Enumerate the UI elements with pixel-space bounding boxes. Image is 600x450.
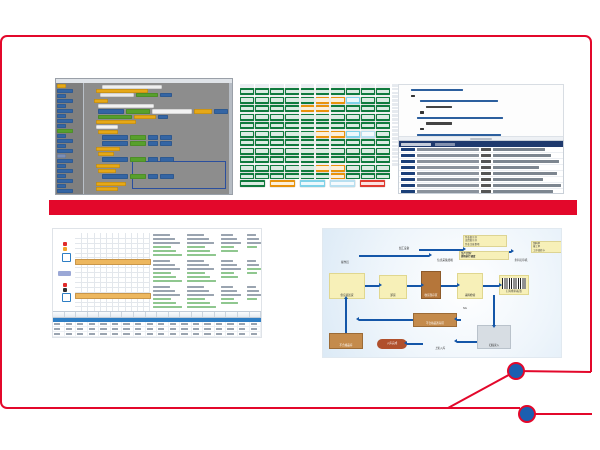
table-cell[interactable] <box>250 332 262 336</box>
form-field-group[interactable] <box>153 286 183 310</box>
table-cell[interactable] <box>192 322 204 326</box>
status-tile-green[interactable] <box>240 122 254 129</box>
table-cell[interactable] <box>146 337 158 338</box>
status-tile-green[interactable] <box>316 88 330 95</box>
status-tile-green[interactable] <box>240 173 254 179</box>
form-field-group[interactable] <box>221 286 243 306</box>
status-tile-green[interactable] <box>376 148 390 155</box>
table-cell[interactable] <box>250 327 262 331</box>
status-tile-green[interactable] <box>376 165 390 172</box>
status-tile-green[interactable] <box>346 148 360 155</box>
table-cell[interactable] <box>238 322 250 326</box>
table-cell[interactable] <box>146 322 158 326</box>
table-cell[interactable] <box>157 322 169 326</box>
table-cell[interactable] <box>65 322 77 326</box>
status-tile-green[interactable] <box>240 131 254 138</box>
table-cell[interactable] <box>203 327 215 331</box>
palette-block[interactable] <box>57 164 66 168</box>
status-tile-green[interactable] <box>376 88 390 95</box>
table-cell[interactable] <box>122 322 134 326</box>
code-block[interactable] <box>102 141 128 146</box>
planner-track-column[interactable] <box>57 233 73 311</box>
blocks-editor-screenshot[interactable] <box>55 78 233 195</box>
status-tile-green[interactable] <box>270 122 284 129</box>
planner-gantt-grid[interactable] <box>75 233 149 311</box>
code-block[interactable] <box>148 157 158 162</box>
status-tile-green[interactable] <box>361 97 375 104</box>
code-block[interactable] <box>98 152 114 156</box>
code-block[interactable] <box>94 99 108 103</box>
code-block[interactable] <box>96 187 118 191</box>
table-column-header[interactable] <box>180 312 192 317</box>
status-tile-green[interactable] <box>270 88 284 95</box>
node-putaway[interactable]: 上架入库 <box>423 329 457 351</box>
code-block[interactable] <box>126 109 150 114</box>
code-block[interactable] <box>98 109 124 114</box>
logistics-flow-diagram-screenshot[interactable]: 加工设备操作员信息采集终端条码打印机供应商送货卸货收货暂存区来料检验打印条码标签… <box>322 228 562 358</box>
node-staging[interactable]: 收货暂存区 <box>421 271 441 299</box>
table-column-header[interactable] <box>146 312 158 317</box>
status-tile-green[interactable] <box>285 131 299 138</box>
log-rows[interactable] <box>399 147 563 194</box>
code-block[interactable] <box>130 141 146 146</box>
status-tile-lightblue[interactable] <box>361 131 375 138</box>
table-cell[interactable] <box>76 332 88 336</box>
table-cell[interactable] <box>203 337 215 338</box>
table-cell[interactable] <box>157 332 169 336</box>
code-block[interactable] <box>98 115 132 119</box>
palette-block[interactable] <box>57 99 73 103</box>
table-cell[interactable] <box>122 337 134 338</box>
status-tile-green[interactable] <box>255 114 269 121</box>
palette-block[interactable] <box>57 174 66 178</box>
status-tile-green[interactable] <box>331 139 345 146</box>
code-block[interactable] <box>96 182 126 186</box>
code-block[interactable] <box>160 135 172 140</box>
table-cell[interactable] <box>134 327 146 331</box>
status-tile-cyan[interactable] <box>346 131 360 138</box>
status-tile-green[interactable] <box>346 105 360 112</box>
status-tile-green[interactable] <box>285 122 299 129</box>
table-cell[interactable] <box>180 327 192 331</box>
table-cell[interactable] <box>65 332 77 336</box>
table-cell[interactable] <box>180 337 192 338</box>
status-tile-green[interactable] <box>346 173 360 179</box>
palette-block[interactable] <box>57 134 66 138</box>
palette-block[interactable] <box>57 114 66 118</box>
status-tile-green[interactable] <box>301 97 315 104</box>
tile-grid[interactable] <box>240 88 390 179</box>
status-tile-green[interactable] <box>240 88 254 95</box>
table-cell[interactable] <box>76 337 88 338</box>
track-marker[interactable] <box>63 283 67 287</box>
table-cell[interactable] <box>99 337 111 338</box>
status-tile-green[interactable] <box>331 114 345 121</box>
table-column-header[interactable] <box>65 312 77 317</box>
track-marker[interactable] <box>62 293 71 302</box>
table-column-header[interactable] <box>238 312 250 317</box>
node-printer[interactable]: 条码打印机 <box>511 241 531 263</box>
code-block[interactable] <box>160 93 172 97</box>
table-cell[interactable] <box>226 332 238 336</box>
table-cell[interactable] <box>53 337 65 338</box>
table-cell[interactable] <box>53 332 65 336</box>
table-cell[interactable] <box>134 332 146 336</box>
table-cell[interactable] <box>122 327 134 331</box>
table-column-header[interactable] <box>192 312 204 317</box>
status-tile-green[interactable] <box>361 88 375 95</box>
node-scan[interactable]: 扫描录入 <box>477 325 511 349</box>
status-tile-green[interactable] <box>346 88 360 95</box>
status-tile-green[interactable] <box>346 122 360 129</box>
status-tile-orange[interactable] <box>331 173 345 179</box>
status-tile-green[interactable] <box>316 148 330 155</box>
status-tile-green[interactable] <box>255 88 269 95</box>
code-block[interactable] <box>152 109 192 114</box>
table-cell[interactable] <box>250 337 262 338</box>
status-tile-green[interactable] <box>361 114 375 121</box>
status-tile-green[interactable] <box>361 105 375 112</box>
table-cell[interactable] <box>192 332 204 336</box>
code-block[interactable] <box>100 93 134 97</box>
table-cell[interactable] <box>157 337 169 338</box>
node-warehouse[interactable]: 入库完成 <box>377 339 407 349</box>
table-row[interactable] <box>53 337 261 338</box>
status-tile-green[interactable] <box>270 165 284 172</box>
status-tile-green[interactable] <box>285 105 299 112</box>
table-cell[interactable] <box>88 327 100 331</box>
form-field-group[interactable] <box>247 286 262 302</box>
table-column-header[interactable] <box>53 312 65 317</box>
status-tile-green[interactable] <box>285 148 299 155</box>
planner-spreadsheet-screenshot[interactable] <box>52 228 262 338</box>
table-cell[interactable] <box>88 332 100 336</box>
table-cell[interactable] <box>111 332 123 336</box>
table-column-header[interactable] <box>111 312 123 317</box>
status-tile-green[interactable] <box>301 88 315 95</box>
table-column-header[interactable] <box>226 312 238 317</box>
table-column-header[interactable] <box>250 312 262 317</box>
table-cell[interactable] <box>76 327 88 331</box>
form-field-group[interactable] <box>153 234 183 258</box>
planner-form-panel[interactable] <box>151 232 259 312</box>
table-cell[interactable] <box>134 322 146 326</box>
table-cell[interactable] <box>180 332 192 336</box>
palette-block[interactable] <box>57 84 66 88</box>
status-tile-green[interactable] <box>346 165 360 172</box>
status-tile-green[interactable] <box>361 156 375 163</box>
node-operator[interactable]: 操作员 <box>331 243 359 265</box>
code-block[interactable] <box>134 115 156 119</box>
code-block[interactable] <box>194 109 212 114</box>
status-tile-orange[interactable] <box>331 97 345 104</box>
blocks-vertical-scrollbar[interactable] <box>229 83 232 194</box>
status-tile-green[interactable] <box>331 88 345 95</box>
code-block[interactable] <box>160 174 174 179</box>
table-cell[interactable] <box>65 337 77 338</box>
table-cell[interactable] <box>192 327 204 331</box>
table-cell[interactable] <box>238 327 250 331</box>
status-tile-green[interactable] <box>270 156 284 163</box>
node-reject-area[interactable]: 不合格品暂存区 <box>413 313 457 327</box>
status-tile-green[interactable] <box>255 148 269 155</box>
status-tile-green[interactable] <box>376 139 390 146</box>
code-block[interactable] <box>214 109 228 114</box>
status-tile-green[interactable] <box>376 122 390 129</box>
log-row[interactable] <box>399 189 563 194</box>
code-block[interactable] <box>160 141 172 146</box>
status-tile-green[interactable] <box>316 122 330 129</box>
palette-block[interactable] <box>57 154 66 158</box>
table-cell[interactable] <box>226 327 238 331</box>
table-cell[interactable] <box>169 322 181 326</box>
status-tile-green[interactable] <box>255 173 269 179</box>
status-tile-green[interactable] <box>361 122 375 129</box>
code-block[interactable] <box>160 157 174 162</box>
status-tile-green[interactable] <box>361 148 375 155</box>
table-column-header[interactable] <box>99 312 111 317</box>
status-tile-orange[interactable] <box>316 165 330 172</box>
status-tile-green[interactable] <box>255 105 269 112</box>
code-block[interactable] <box>136 93 158 97</box>
palette-block[interactable] <box>57 124 66 128</box>
table-cell[interactable] <box>53 322 65 326</box>
table-cell[interactable] <box>157 327 169 331</box>
palette-block[interactable] <box>57 104 66 108</box>
status-tile-green[interactable] <box>346 114 360 121</box>
table-cell[interactable] <box>192 337 204 338</box>
status-tile-cyan[interactable] <box>346 97 360 104</box>
status-tile-green[interactable] <box>376 105 390 112</box>
palette-block[interactable] <box>57 184 66 188</box>
palette-block[interactable] <box>57 144 66 148</box>
status-tile-green[interactable] <box>376 114 390 121</box>
status-tile-green[interactable] <box>301 122 315 129</box>
table-column-header[interactable] <box>122 312 134 317</box>
code-block[interactable] <box>148 174 158 179</box>
status-tile-green[interactable] <box>316 156 330 163</box>
form-field-group[interactable] <box>247 234 262 250</box>
table-cell[interactable] <box>99 322 111 326</box>
status-tile-green[interactable] <box>255 122 269 129</box>
palette-block[interactable] <box>57 169 73 173</box>
status-tile-green[interactable] <box>316 139 330 146</box>
status-tile-green[interactable] <box>376 156 390 163</box>
planner-data-table[interactable] <box>53 311 261 337</box>
code-block[interactable] <box>96 125 118 129</box>
status-tile-green[interactable] <box>285 97 299 104</box>
palette-block[interactable] <box>57 129 73 133</box>
status-tile-green[interactable] <box>361 139 375 146</box>
code-block[interactable] <box>102 157 128 162</box>
table-cell[interactable] <box>169 337 181 338</box>
table-cell[interactable] <box>99 332 111 336</box>
track-marker[interactable] <box>58 271 71 276</box>
status-tile-orange[interactable] <box>316 97 330 104</box>
status-tile-grid-screenshot[interactable] <box>240 84 390 179</box>
table-cell[interactable] <box>226 337 238 338</box>
status-tile-green[interactable] <box>270 131 284 138</box>
status-tile-green[interactable] <box>240 105 254 112</box>
form-field-group[interactable] <box>187 286 217 310</box>
status-tile-green[interactable] <box>240 139 254 146</box>
node-reject-store[interactable]: 不合格品库 <box>329 333 363 349</box>
status-tile-green[interactable] <box>331 148 345 155</box>
status-tile-green[interactable] <box>270 114 284 121</box>
status-tile-green[interactable] <box>255 156 269 163</box>
status-tile-green[interactable] <box>270 105 284 112</box>
status-tile-green[interactable] <box>331 156 345 163</box>
table-cell[interactable] <box>215 327 227 331</box>
status-tile-green[interactable] <box>270 97 284 104</box>
status-tile-green[interactable] <box>270 173 284 179</box>
node-forklift[interactable]: 卸货 <box>379 275 407 299</box>
code-block[interactable] <box>96 164 120 168</box>
table-cell[interactable] <box>169 332 181 336</box>
status-tile-green[interactable] <box>255 97 269 104</box>
code-block[interactable] <box>130 174 146 179</box>
status-tile-green[interactable] <box>285 173 299 179</box>
gantt-bar[interactable] <box>75 293 151 299</box>
status-tile-green[interactable] <box>255 165 269 172</box>
status-tile-orange[interactable] <box>316 131 330 138</box>
status-tile-green[interactable] <box>301 165 315 172</box>
status-tile-green[interactable] <box>255 131 269 138</box>
status-tile-green[interactable] <box>285 165 299 172</box>
log-console-screenshot[interactable] <box>398 140 564 194</box>
status-tile-green[interactable] <box>285 139 299 146</box>
form-field-group[interactable] <box>153 260 183 284</box>
table-column-header[interactable] <box>88 312 100 317</box>
form-field-group[interactable] <box>221 234 243 254</box>
status-tile-green[interactable] <box>376 131 390 138</box>
form-field-group[interactable] <box>187 234 217 258</box>
palette-block[interactable] <box>57 109 73 113</box>
table-cell[interactable] <box>111 327 123 331</box>
table-cell[interactable] <box>238 337 250 338</box>
table-cell[interactable] <box>111 337 123 338</box>
table-cell[interactable] <box>134 337 146 338</box>
code-block[interactable] <box>96 120 136 124</box>
code-block[interactable] <box>102 174 128 179</box>
track-marker[interactable] <box>63 247 67 251</box>
status-tile-green[interactable] <box>240 114 254 121</box>
status-tile-green[interactable] <box>316 114 330 121</box>
status-tile-orange[interactable] <box>301 105 315 112</box>
form-field-group[interactable] <box>221 260 243 280</box>
status-tile-orange[interactable] <box>331 165 345 172</box>
table-column-header[interactable] <box>134 312 146 317</box>
table-cell[interactable] <box>53 327 65 331</box>
code-block[interactable] <box>148 135 158 140</box>
palette-block[interactable] <box>57 139 73 143</box>
status-tile-orange[interactable] <box>331 131 345 138</box>
status-tile-green[interactable] <box>331 105 345 112</box>
table-cell[interactable] <box>146 327 158 331</box>
table-cell[interactable] <box>238 332 250 336</box>
palette-block[interactable] <box>57 194 66 195</box>
status-tile-green[interactable] <box>301 148 315 155</box>
table-cell[interactable] <box>250 322 262 326</box>
palette-block[interactable] <box>57 89 73 93</box>
code-block[interactable] <box>130 135 146 140</box>
track-marker[interactable] <box>63 288 67 292</box>
table-cell[interactable] <box>169 327 181 331</box>
blocks-palette[interactable] <box>56 83 84 194</box>
table-column-header[interactable] <box>215 312 227 317</box>
table-cell[interactable] <box>122 332 134 336</box>
palette-block[interactable] <box>57 159 73 163</box>
status-tile-green[interactable] <box>346 139 360 146</box>
status-tile-green[interactable] <box>240 156 254 163</box>
node-inspection[interactable]: 来料检验 <box>457 273 483 299</box>
code-block[interactable] <box>98 169 116 173</box>
status-tile-green[interactable] <box>316 173 330 179</box>
palette-block[interactable] <box>57 119 73 123</box>
palette-block[interactable] <box>57 149 73 153</box>
status-tile-orange[interactable] <box>316 105 330 112</box>
table-column-header[interactable] <box>203 312 215 317</box>
status-tile-green[interactable] <box>301 131 315 138</box>
status-tile-green[interactable] <box>255 139 269 146</box>
track-marker[interactable] <box>62 253 71 262</box>
palette-block[interactable] <box>57 179 73 183</box>
status-tile-green[interactable] <box>270 148 284 155</box>
status-tile-green[interactable] <box>285 88 299 95</box>
code-block[interactable] <box>98 130 118 134</box>
table-cell[interactable] <box>215 332 227 336</box>
gantt-bar[interactable] <box>75 259 151 265</box>
status-tile-green[interactable] <box>376 97 390 104</box>
table-cell[interactable] <box>215 322 227 326</box>
node-barcode[interactable]: 打印条码标签 <box>499 275 529 295</box>
code-block[interactable] <box>148 141 158 146</box>
status-tile-green[interactable] <box>240 97 254 104</box>
table-column-header[interactable] <box>157 312 169 317</box>
palette-block[interactable] <box>57 94 66 98</box>
form-field-group[interactable] <box>247 260 262 276</box>
status-tile-green[interactable] <box>240 148 254 155</box>
status-tile-green[interactable] <box>361 173 375 179</box>
table-column-header[interactable] <box>169 312 181 317</box>
table-cell[interactable] <box>203 322 215 326</box>
table-cell[interactable] <box>180 322 192 326</box>
table-cell[interactable] <box>203 332 215 336</box>
code-block[interactable] <box>96 147 120 151</box>
status-tile-green[interactable] <box>240 165 254 172</box>
table-column-header[interactable] <box>76 312 88 317</box>
code-block[interactable] <box>98 104 154 108</box>
status-tile-green[interactable] <box>301 156 315 163</box>
status-tile-green[interactable] <box>376 173 390 179</box>
status-tile-green[interactable] <box>285 114 299 121</box>
table-cell[interactable] <box>88 337 100 338</box>
status-tile-green[interactable] <box>301 114 315 121</box>
status-tile-green[interactable] <box>331 122 345 129</box>
table-cell[interactable] <box>65 327 77 331</box>
code-block[interactable] <box>102 135 128 140</box>
palette-block[interactable] <box>57 189 73 193</box>
status-tile-green[interactable] <box>301 173 315 179</box>
blocks-canvas[interactable] <box>84 83 232 194</box>
table-cell[interactable] <box>88 322 100 326</box>
table-cell[interactable] <box>226 322 238 326</box>
table-cell[interactable] <box>146 332 158 336</box>
status-tile-green[interactable] <box>301 139 315 146</box>
code-block[interactable] <box>130 157 146 162</box>
status-tile-green[interactable] <box>285 156 299 163</box>
code-block[interactable] <box>158 115 168 119</box>
